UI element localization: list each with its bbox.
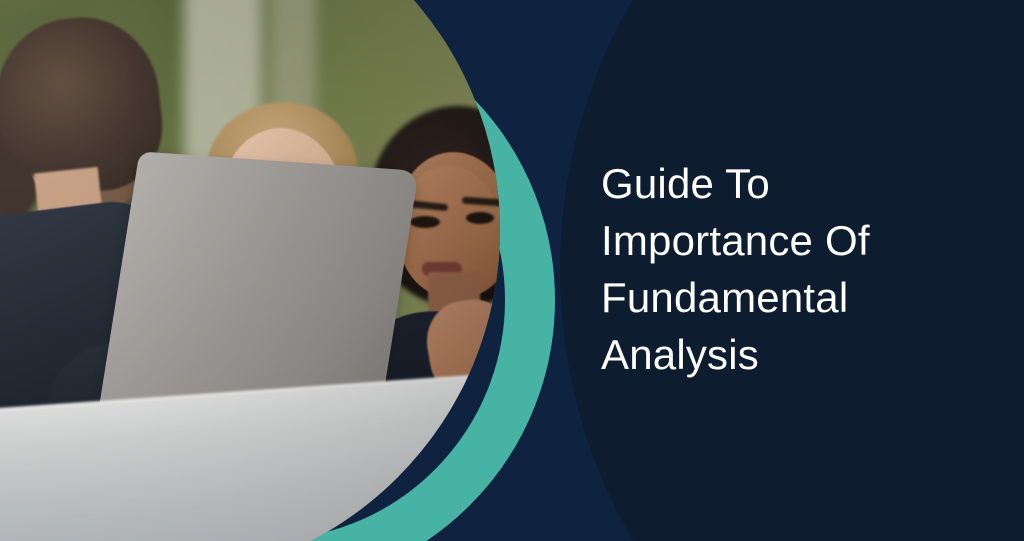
title-line-1: Guide To — [601, 155, 961, 212]
office-photo — [0, 0, 500, 541]
title-line-3: Fundamental — [601, 269, 961, 326]
photo-vignette — [0, 0, 500, 541]
title-line-4: Analysis — [601, 326, 961, 383]
page-title: Guide To Importance Of Fundamental Analy… — [601, 155, 961, 383]
title-line-2: Importance Of — [601, 212, 961, 269]
photo-circle-mask — [0, 0, 500, 541]
promo-banner: Guide To Importance Of Fundamental Analy… — [0, 0, 1024, 541]
